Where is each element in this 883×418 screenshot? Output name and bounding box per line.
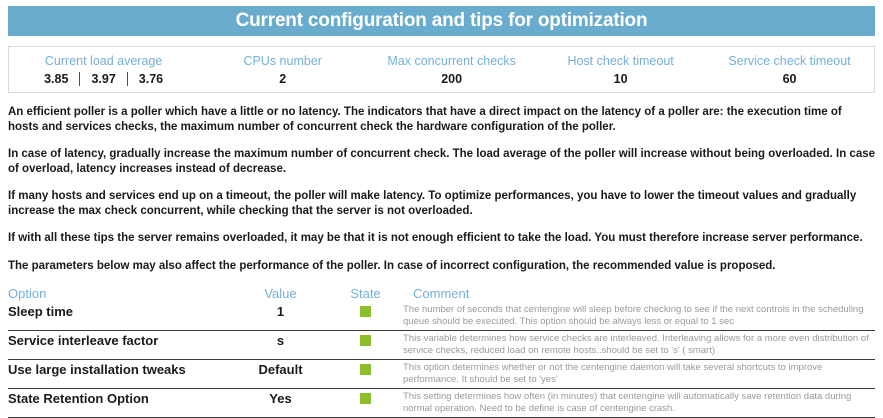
tip-paragraph: The parameters below may also affect the… (8, 259, 875, 274)
stat-cpus-number: CPUs number 2 (198, 50, 367, 90)
optimization-tips-page: Current configuration and tips for optim… (0, 6, 883, 409)
stat-label: Host check timeout (536, 52, 705, 70)
stat-value: 10 (536, 70, 705, 88)
parameters-table: Option Value State Comment Sleep time 1 … (8, 286, 875, 418)
column-header-option: Option (8, 286, 233, 302)
table-row: State Retention Option Yes This setting … (8, 389, 875, 418)
tip-paragraph: An efficient poller is a poller which ha… (8, 105, 875, 134)
row-comment: The number of seconds that centengine wi… (403, 302, 875, 331)
row-comment: This option determines whether or not th… (403, 360, 875, 389)
stat-label: Max concurrent checks (367, 52, 536, 70)
stat-label: CPUs number (198, 52, 367, 70)
tips-text-block: An efficient poller is a poller which ha… (8, 105, 875, 273)
row-comment: This setting determines how often (in mi… (403, 389, 875, 418)
row-state-cell (328, 302, 403, 331)
status-ok-icon (360, 306, 371, 317)
tip-paragraph: In case of latency, gradually increase t… (8, 147, 875, 176)
stat-current-load-average: Current load average 3.85 3.97 3.76 (9, 50, 198, 90)
stat-host-check-timeout: Host check timeout 10 (536, 50, 705, 90)
stat-value: 3.85 3.97 3.76 (9, 70, 198, 88)
load-average-group: 3.85 3.97 3.76 (33, 70, 174, 88)
row-option-value: Yes (233, 389, 328, 418)
row-state-cell (328, 389, 403, 418)
column-header-value: Value (233, 286, 328, 302)
tip-paragraph: If with all these tips the server remain… (8, 231, 875, 246)
stat-label: Service check timeout (705, 52, 874, 70)
load-average-5m: 3.97 (80, 70, 126, 88)
status-ok-icon (360, 335, 371, 346)
row-option-name: Service interleave factor (8, 331, 233, 360)
column-header-comment: Comment (403, 286, 875, 302)
table-header-row: Option Value State Comment (8, 286, 875, 302)
stat-value: 200 (367, 70, 536, 88)
load-average-15m: 3.76 (128, 70, 174, 88)
row-state-cell (328, 331, 403, 360)
table-row: Use large installation tweaks Default Th… (8, 360, 875, 389)
table-row: Sleep time 1 The number of seconds that … (8, 302, 875, 331)
current-configuration-summary: Current load average 3.85 3.97 3.76 CPUs… (8, 46, 875, 93)
stat-value: 60 (705, 70, 874, 88)
row-state-cell (328, 360, 403, 389)
load-average-1m: 3.85 (33, 70, 79, 88)
status-ok-icon (360, 364, 371, 375)
status-ok-icon (360, 393, 371, 404)
row-option-value: s (233, 331, 328, 360)
stat-value: 2 (198, 70, 367, 88)
page-title: Current configuration and tips for optim… (8, 6, 875, 36)
stat-max-concurrent-checks: Max concurrent checks 200 (367, 50, 536, 90)
row-option-value: 1 (233, 302, 328, 331)
tip-paragraph: If many hosts and services end up on a t… (8, 189, 875, 218)
stat-service-check-timeout: Service check timeout 60 (705, 50, 874, 90)
row-option-name: State Retention Option (8, 389, 233, 418)
column-header-state: State (328, 286, 403, 302)
row-option-value: Default (233, 360, 328, 389)
row-option-name: Use large installation tweaks (8, 360, 233, 389)
table-row: Service interleave factor s This variabl… (8, 331, 875, 360)
stat-label: Current load average (9, 52, 198, 70)
row-option-name: Sleep time (8, 302, 233, 331)
row-comment: This variable determines how service che… (403, 331, 875, 360)
